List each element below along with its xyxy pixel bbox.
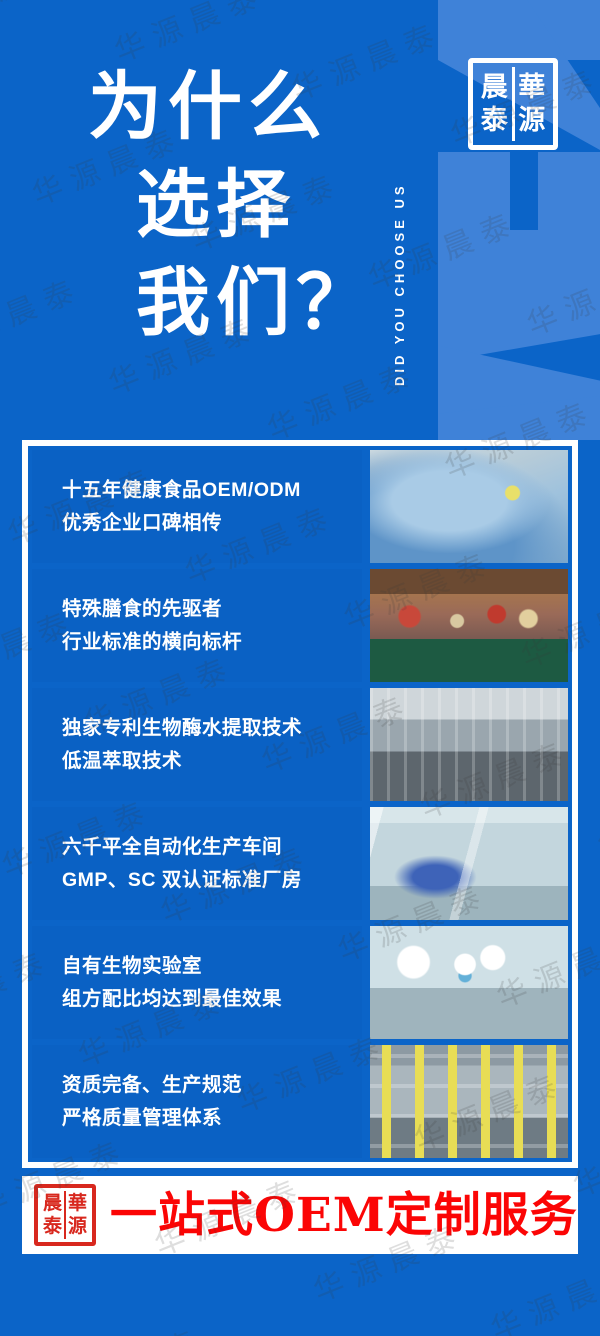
photo-art [370, 1045, 568, 1158]
photo-art [370, 807, 568, 920]
feature-list: 十五年健康食品OEM/ODM 优秀企业口碑相传 特殊膳食的先驱者 行业标准的横向… [22, 440, 578, 1168]
feature-line-2: 严格质量管理体系 [62, 1102, 362, 1135]
feature-photo-filling-machine-production-line [370, 688, 568, 801]
watermark-text: 华源晨泰 [590, 765, 600, 866]
photo-art [370, 688, 568, 801]
brand-seal-logo: 華 源 晨 泰 [468, 58, 558, 150]
feature-photo-lab-technician-testing-sample [370, 450, 568, 563]
feature-photo-lab-staff-inspecting-line [370, 926, 568, 1039]
seal-char-tai: 泰 [481, 107, 508, 134]
photo-art [370, 450, 568, 563]
photo-art [370, 569, 568, 682]
footer-slogan: 一站式OEM定制服务 [110, 1192, 578, 1239]
footer-seal-logo: 華 源 晨 泰 [34, 1184, 96, 1246]
headline-line-3: 我们？ [88, 254, 398, 352]
watermark-text: 华源晨泰 [46, 1315, 211, 1336]
watermark-text: 华源晨泰 [483, 1248, 600, 1336]
feature-text-panel: 六千平全自动化生产车间 GMP、SC 双认证标准厂房 [32, 807, 362, 920]
seal-char-chen: 晨 [481, 74, 508, 101]
feature-line-1: 特殊膳食的先驱者 [62, 593, 362, 626]
photo-art [370, 926, 568, 1039]
feature-photo-tablet-packaging-conveyor [370, 1045, 568, 1158]
footer-seal-char-chen: 晨 [43, 1194, 62, 1213]
feature-line-1: 资质完备、生产规范 [62, 1069, 362, 1102]
feature-photo-clean-room-corridor [370, 807, 568, 920]
feature-photo-conference-audience-hall [370, 569, 568, 682]
feature-line-1: 十五年健康食品OEM/ODM [62, 474, 362, 507]
footer-seal-char-hua: 華 [68, 1194, 87, 1213]
feature-line-1: 自有生物实验室 [62, 950, 362, 983]
feature-line-2: 行业标准的横向标杆 [62, 626, 362, 659]
watermark-text: 华源晨泰 [596, 432, 600, 533]
headline-line-1: 为什么 [88, 58, 398, 156]
footer-seal-column-right: 華 源 [66, 1191, 89, 1239]
headline-line-2: 选择 [88, 156, 398, 254]
seal-column-left: 晨 泰 [477, 67, 515, 141]
feature-row: 资质完备、生产规范 严格质量管理体系 [32, 1045, 568, 1158]
page-title: 为什么 选择 我们？ [88, 58, 398, 352]
feature-line-2: 低温萃取技术 [62, 745, 362, 778]
poster-header: 为什么 选择 我们？ DID YOU CHOOSE US 華 源 晨 泰 [0, 0, 600, 434]
feature-line-1: 六千平全自动化生产车间 [62, 831, 362, 864]
feature-text-panel: 资质完备、生产规范 严格质量管理体系 [32, 1045, 362, 1158]
footer-seal-column-left: 晨 泰 [41, 1191, 66, 1239]
vertical-english-subtitle: DID YOU CHOOSE US [392, 36, 418, 386]
feature-row: 十五年健康食品OEM/ODM 优秀企业口碑相传 [32, 450, 568, 563]
promotional-poster: 为什么 选择 我们？ DID YOU CHOOSE US 華 源 晨 泰 十五年… [0, 0, 600, 1336]
feature-text-panel: 十五年健康食品OEM/ODM 优秀企业口碑相传 [32, 450, 362, 563]
feature-line-2: 组方配比均达到最佳效果 [62, 983, 362, 1016]
feature-row: 六千平全自动化生产车间 GMP、SC 双认证标准厂房 [32, 807, 568, 920]
feature-row: 独家专利生物酶水提取技术 低温萃取技术 [32, 688, 568, 801]
seal-char-hua: 華 [518, 74, 545, 101]
feature-line-2: 优秀企业口碑相传 [62, 507, 362, 540]
feature-text-panel: 自有生物实验室 组方配比均达到最佳效果 [32, 926, 362, 1039]
footer-seal-char-tai: 泰 [43, 1217, 62, 1236]
feature-line-1: 独家专利生物酶水提取技术 [62, 712, 362, 745]
footer-seal-char-yuan: 源 [68, 1217, 87, 1236]
watermark-row: 华源晨泰华源晨泰华源晨泰华源晨泰华源晨泰华源晨泰华源晨泰华源晨泰 [161, 1284, 600, 1336]
seal-char-yuan: 源 [518, 107, 545, 134]
seal-column-right: 華 源 [515, 67, 550, 141]
feature-line-2: GMP、SC 双认证标准厂房 [62, 864, 362, 897]
footer-banner: 華 源 晨 泰 一站式OEM定制服务 [22, 1176, 578, 1254]
feature-text-panel: 特殊膳食的先驱者 行业标准的横向标杆 [32, 569, 362, 682]
feature-row: 自有生物实验室 组方配比均达到最佳效果 [32, 926, 568, 1039]
feature-row: 特殊膳食的先驱者 行业标准的横向标杆 [32, 569, 568, 682]
feature-text-panel: 独家专利生物酶水提取技术 低温萃取技术 [32, 688, 362, 801]
